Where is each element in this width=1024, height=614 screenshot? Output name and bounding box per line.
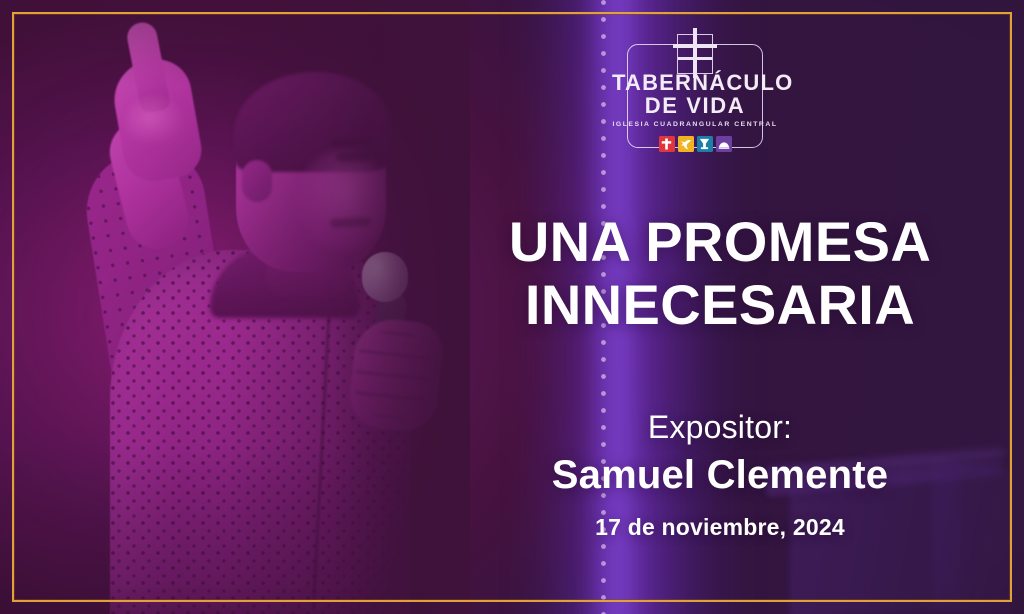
crown-icon	[716, 136, 732, 152]
cross-icon	[659, 136, 675, 152]
logo-cross-horizontal	[673, 44, 717, 48]
event-date: 17 de noviembre, 2024	[440, 514, 1000, 541]
sermon-slide: TABERNÁCULO DE VIDA IGLESIA CUADRANGULAR…	[0, 0, 1024, 614]
speaker-name: Samuel Clemente	[440, 453, 1000, 498]
logo-title-line1: TABERNÁCULO	[612, 71, 778, 94]
page-title: UNA PROMESA INNECESARIA	[440, 210, 1000, 336]
logo-icon-row	[612, 136, 778, 152]
title-line-1: UNA PROMESA	[440, 210, 1000, 273]
logo-title-line2: DE VIDA	[612, 94, 778, 117]
speaker-label: Expositor:	[440, 409, 1000, 446]
logo-tagline: IGLESIA CUADRANGULAR CENTRAL	[612, 121, 778, 128]
title-line-2: INNECESARIA	[440, 273, 1000, 336]
logo-cross-horizontal-lower	[678, 57, 712, 60]
church-logo: TABERNÁCULO DE VIDA IGLESIA CUADRANGULAR…	[612, 26, 778, 152]
chalice-icon	[697, 136, 713, 152]
dove-icon	[678, 136, 694, 152]
